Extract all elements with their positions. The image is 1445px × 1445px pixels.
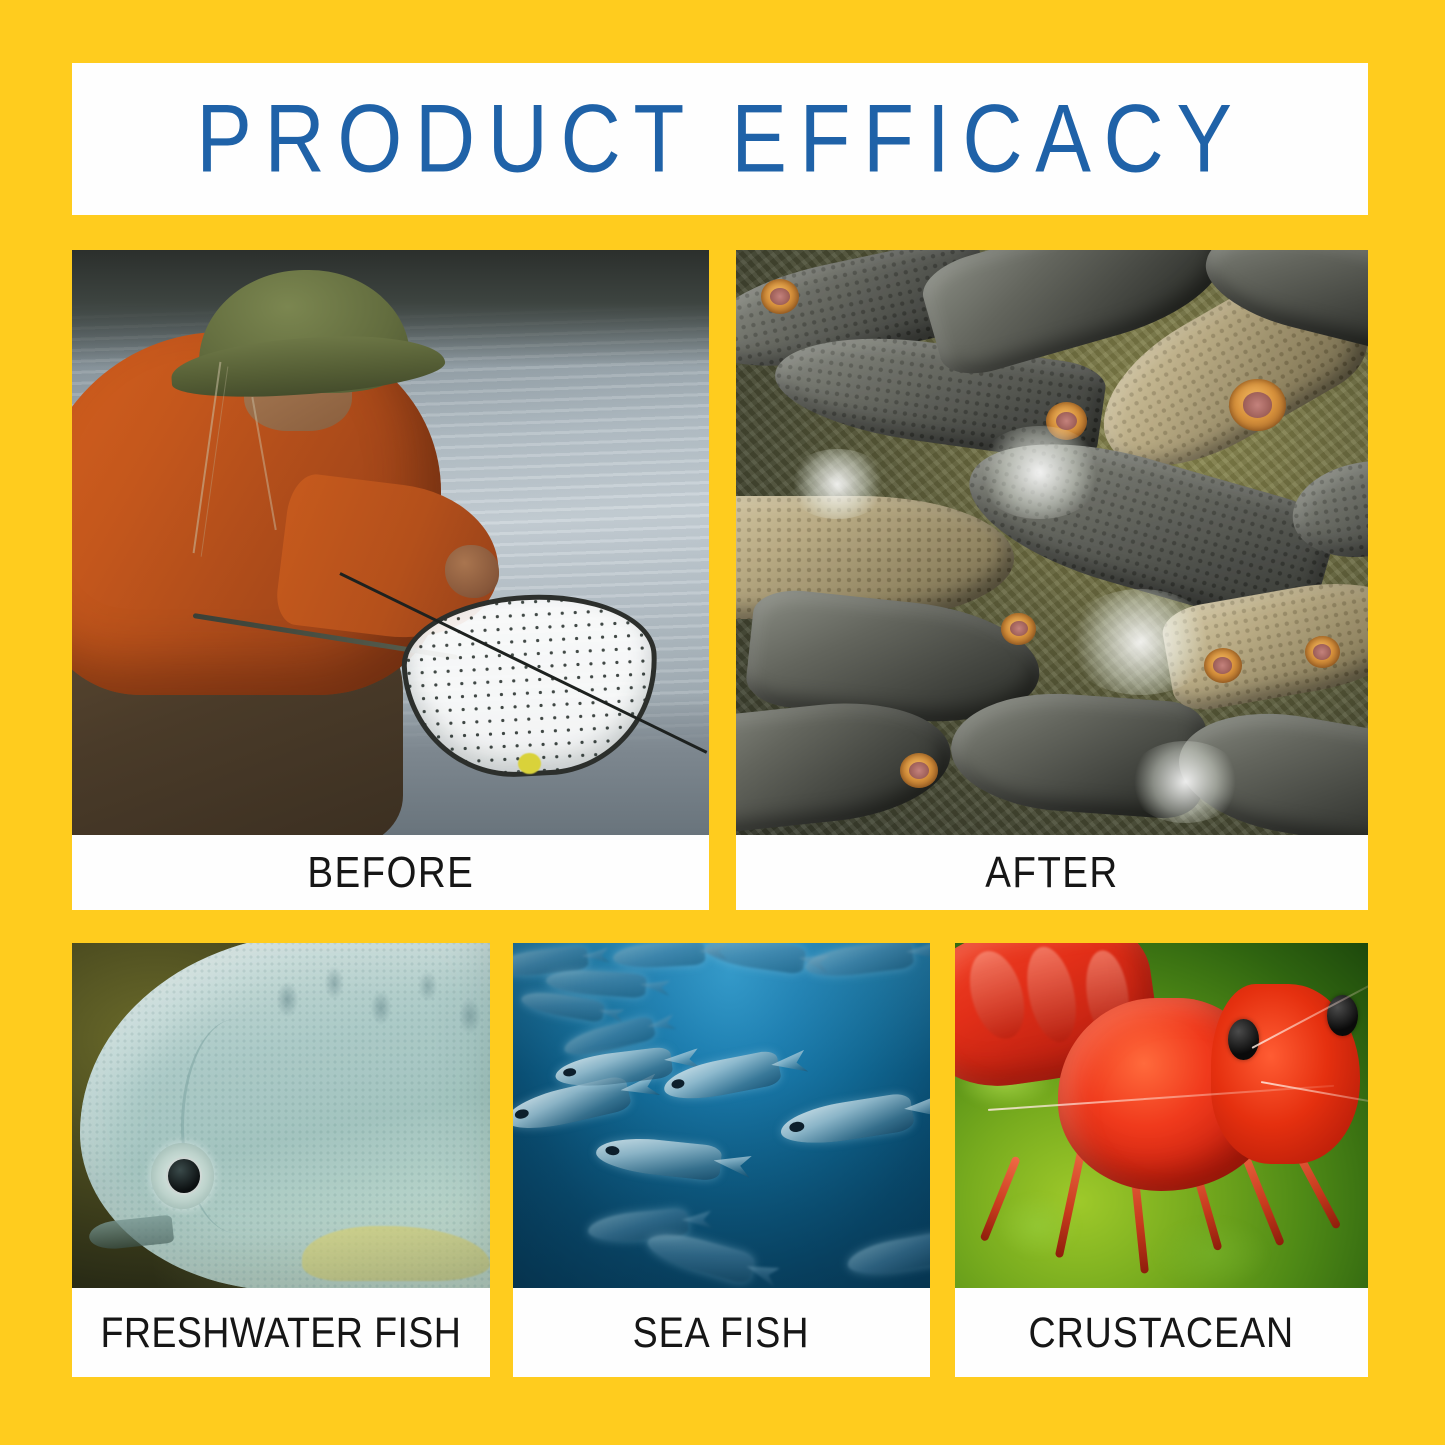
carp-mouth — [1001, 613, 1036, 645]
fish-pupil — [166, 1157, 202, 1195]
angler-hand — [445, 545, 499, 598]
before-caption-box: BEFORE — [72, 835, 709, 910]
crustacean-caption-box: CRUSTACEAN — [955, 1288, 1368, 1377]
crustacean-photo — [955, 943, 1368, 1288]
freshwater-fish-photo — [72, 943, 490, 1288]
shrimp-eye — [1228, 1019, 1259, 1060]
sea-fish-card[interactable]: SEA FISH — [513, 943, 930, 1377]
carp-mouth — [1229, 379, 1286, 432]
poster-root: PRODUCT EFFICACY — [0, 0, 1445, 1445]
after-photo — [736, 250, 1368, 835]
page-title: PRODUCT EFFICACY — [196, 91, 1244, 187]
carp-mouth — [1305, 636, 1340, 668]
sea-fish-caption-box: SEA FISH — [513, 1288, 930, 1377]
freshwater-fish-caption-text: FRESHWATER FISH — [101, 1311, 462, 1353]
crustacean-card[interactable]: CRUSTACEAN — [955, 943, 1368, 1377]
after-caption-box: AFTER — [736, 835, 1368, 910]
after-caption-text: AFTER — [985, 851, 1118, 894]
before-card[interactable]: BEFORE — [72, 250, 709, 910]
crustacean-caption-text: CRUSTACEAN — [1029, 1311, 1295, 1353]
fish-flank-spots — [264, 950, 490, 1116]
water-foam — [976, 426, 1102, 520]
after-card[interactable]: AFTER — [736, 250, 1368, 910]
water-foam — [1128, 741, 1242, 823]
before-caption-text: BEFORE — [307, 851, 474, 894]
freshwater-fish-scene — [72, 943, 490, 1288]
sea-fish-caption-text: SEA FISH — [633, 1311, 810, 1353]
title-banner: PRODUCT EFFICACY — [72, 63, 1368, 215]
sea-fish-photo — [513, 943, 930, 1288]
fishing-lure — [518, 753, 541, 774]
freshwater-fish-caption-box: FRESHWATER FISH — [72, 1288, 490, 1377]
water-foam — [1065, 589, 1217, 694]
shrimp-scene — [955, 943, 1368, 1288]
water-foam — [787, 449, 888, 519]
freshwater-fish-card[interactable]: FRESHWATER FISH — [72, 943, 490, 1377]
carp-scene — [736, 250, 1368, 835]
angler-scene — [72, 250, 709, 835]
before-photo — [72, 250, 709, 835]
sea-fish-scene — [513, 943, 930, 1288]
